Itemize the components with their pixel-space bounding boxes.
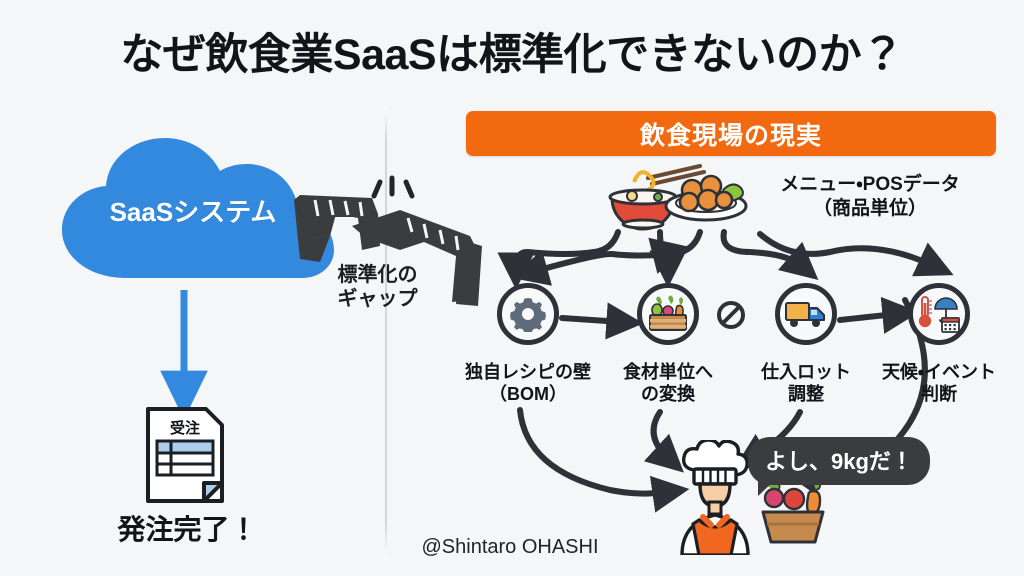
delivery-truck-icon: [785, 299, 827, 329]
node-label-line2: 判断: [864, 384, 1014, 406]
node-recipe-bom[interactable]: [497, 283, 559, 345]
saas-cloud-group: SaaSシステム: [48, 130, 338, 290]
document-header-text: 受注: [170, 419, 200, 437]
reality-banner-text: 飲食現場の現実: [640, 116, 822, 152]
node-ingredient-conversion[interactable]: [637, 283, 699, 345]
node-ingredient-conversion-label: 食材単位へ の変換: [593, 362, 743, 405]
node-label-line1: 仕入ロット: [731, 362, 881, 384]
fried-chicken-plate-icon: [666, 176, 746, 220]
order-document-icon: 受注: [140, 405, 230, 505]
node-label-line1: 食材単位へ: [593, 362, 743, 384]
chef-speech-bubble: よし、9kgだ！: [748, 437, 930, 485]
order-document-group: 受注: [140, 405, 230, 505]
pos-data-label-line1: メニュー・POSデータ: [735, 173, 1005, 197]
node-label-line2: の変換: [593, 384, 743, 406]
gap-caption-line2: ギャップ: [300, 288, 455, 312]
slide-canvas: なぜ飲食業SaaSは標準化できないのか？ SaaSシステム 受注: [0, 0, 1024, 576]
vertical-divider: [385, 105, 387, 560]
chef-group: [672, 440, 758, 555]
node-label-line2: 調整: [731, 384, 881, 406]
node-label-line2: （BOM）: [453, 384, 603, 406]
node-purchase-lot-label: 仕入ロット 調整: [731, 362, 881, 405]
node-label-line1: 独自レシピの壁: [453, 362, 603, 384]
ramen-bowl-icon: [610, 166, 704, 229]
reality-banner: 飲食現場の現実: [466, 111, 996, 156]
cloud-label: SaaSシステム: [48, 192, 338, 229]
chef-icon: [672, 440, 758, 555]
weather-event-icon: [918, 295, 960, 333]
page-title: なぜ飲食業SaaSは標準化できないのか？: [0, 20, 1024, 82]
node-label-line1: 天候・イベント: [864, 362, 1014, 384]
chef-speech-text: よし、9kgだ！: [765, 449, 913, 474]
node-recipe-bom-label: 独自レシピの壁 （BOM）: [453, 362, 603, 405]
crack-spark-icon: [374, 178, 412, 196]
order-complete-caption: 発注完了！: [60, 508, 315, 548]
node-purchase-lot[interactable]: [775, 283, 837, 345]
gear-icon: [510, 296, 546, 332]
gap-caption: 標準化の ギャップ: [300, 264, 455, 311]
pos-data-label-line2: （商品単位）: [735, 197, 1005, 221]
node-weather-event[interactable]: [908, 283, 970, 345]
author-credit: @Shintaro OHASHI: [360, 536, 660, 559]
vegetable-crate-icon: [648, 295, 688, 333]
gap-caption-line1: 標準化の: [300, 264, 455, 288]
pos-data-label: メニュー・POSデータ （商品単位）: [735, 173, 1005, 221]
node-weather-event-label: 天候・イベント 判断: [864, 362, 1014, 405]
prohibition-icon: [716, 300, 746, 330]
